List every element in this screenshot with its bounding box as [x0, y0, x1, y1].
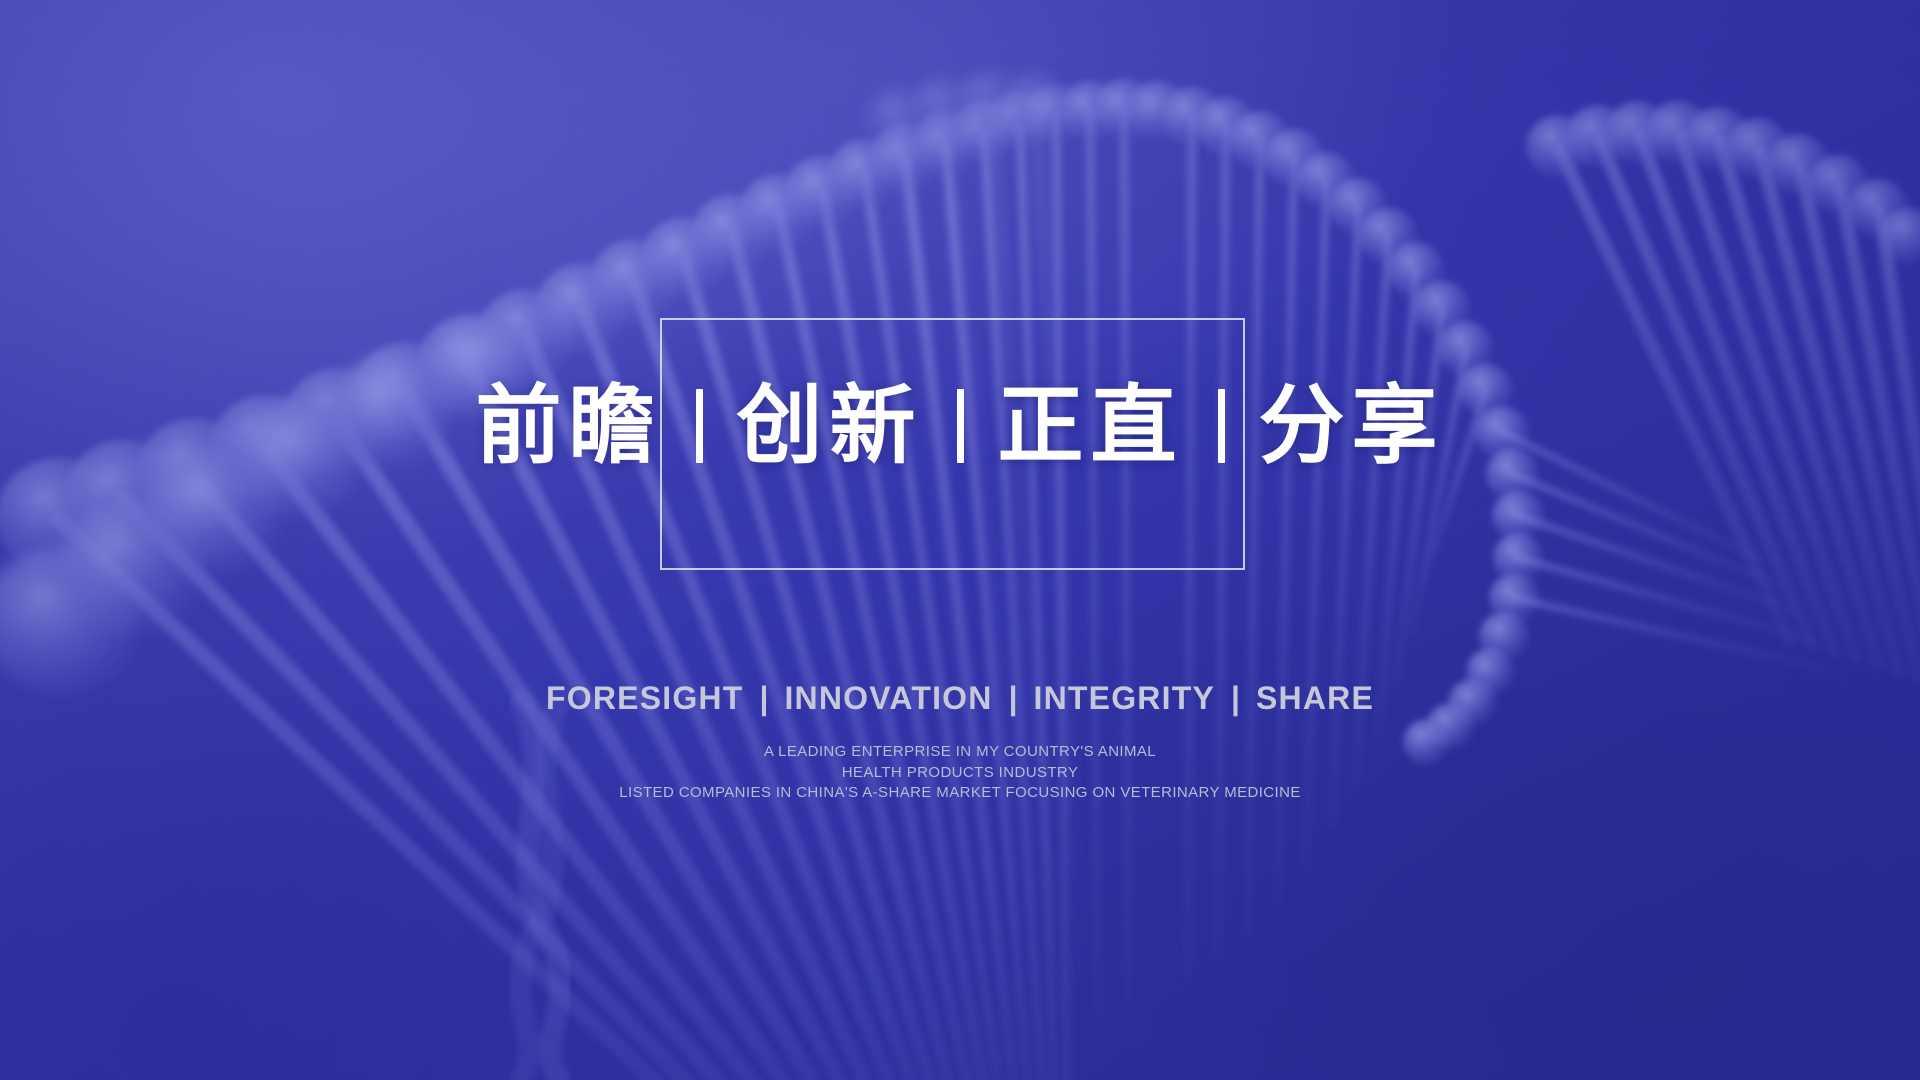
subtitle-word-innovation: INNOVATION	[784, 682, 992, 714]
subtitle-separator-3: |	[1231, 682, 1240, 714]
subtitle-word-share: SHARE	[1256, 682, 1374, 714]
subtitle-separator-2: |	[1009, 682, 1018, 714]
subtitle: FORESIGHT | INNOVATION | INTEGRITY | SHA…	[0, 682, 1920, 714]
description-line-3: LISTED COMPANIES IN CHINA'S A-SHARE MARK…	[0, 783, 1920, 804]
subtitle-separator-1: |	[759, 682, 768, 714]
title-word-foresight: 前瞻	[476, 383, 662, 469]
title-separator-3	[1218, 389, 1225, 463]
title-separator-2	[957, 389, 964, 463]
description-block: A LEADING ENTERPRISE IN MY COUNTRY'S ANI…	[0, 742, 1920, 804]
title-separator-1	[696, 389, 703, 463]
description-line-2: HEALTH PRODUCTS INDUSTRY	[0, 763, 1920, 784]
subtitle-word-foresight: FORESIGHT	[546, 682, 743, 714]
title-word-share: 分享	[1259, 383, 1445, 469]
title-word-integrity: 正直	[998, 383, 1184, 469]
title-word-innovation: 创新	[737, 383, 923, 469]
banner-stage: 前瞻 创新 正直 分享 FORESIGHT | INNOVATION | INT…	[0, 0, 1920, 1080]
subtitle-word-integrity: INTEGRITY	[1034, 682, 1215, 714]
description-line-1: A LEADING ENTERPRISE IN MY COUNTRY'S ANI…	[0, 742, 1920, 763]
main-title: 前瞻 创新 正直 分享	[0, 383, 1920, 469]
